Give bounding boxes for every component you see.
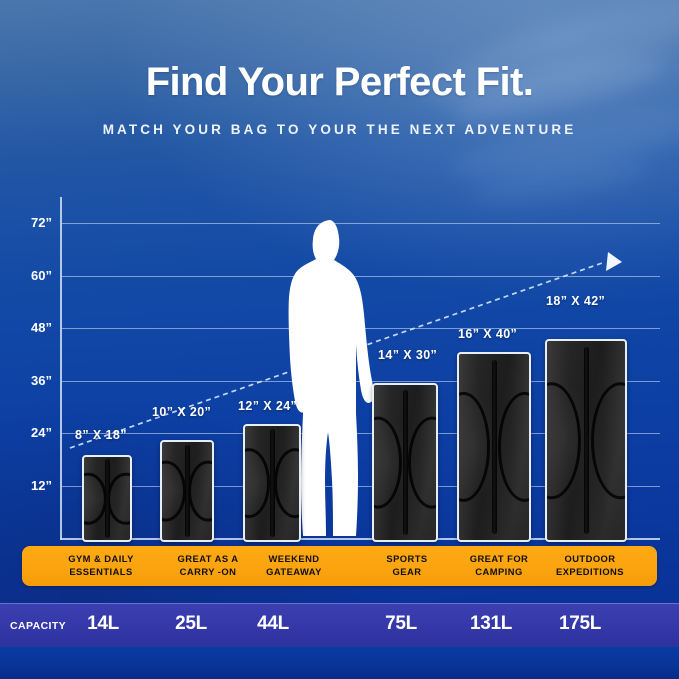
bag-dimension-label: 14” X 30” bbox=[378, 348, 437, 362]
use-case-line-2: EXPEDITIONS bbox=[530, 566, 650, 579]
bag-seam bbox=[270, 429, 275, 536]
use-case-item[interactable]: OUTDOOREXPEDITIONS bbox=[530, 553, 650, 579]
bag-dimension-label: 8” X 18” bbox=[75, 428, 127, 442]
bag-seam bbox=[403, 390, 408, 536]
bag-seam bbox=[492, 360, 497, 535]
y-axis-line bbox=[60, 197, 62, 540]
bag-bar[interactable] bbox=[457, 352, 531, 542]
bag-bar[interactable] bbox=[545, 339, 627, 542]
bag-dimension-label: 10” X 20” bbox=[152, 405, 211, 419]
bag-dimension-label: 12” X 24” bbox=[238, 399, 297, 413]
bag-size-infographic: Find Your Perfect Fit. MATCH YOUR BAG TO… bbox=[0, 0, 679, 679]
bag-bar[interactable] bbox=[243, 424, 301, 542]
bag-bar[interactable] bbox=[372, 383, 438, 542]
capacity-value: 175L bbox=[532, 613, 628, 635]
bag-dimension-label: 18” X 42” bbox=[546, 294, 605, 308]
capacity-value: 25L bbox=[148, 613, 234, 635]
y-axis-tick-label: 72” bbox=[8, 215, 52, 230]
bag-seam bbox=[105, 459, 110, 537]
bag-seam bbox=[185, 445, 190, 537]
use-case-line-2: GATEAWAY bbox=[236, 566, 352, 579]
y-axis-tick-label: 12” bbox=[8, 478, 52, 493]
use-case-line-2: ESSENTIALS bbox=[36, 566, 166, 579]
bag-bar[interactable] bbox=[160, 440, 214, 542]
capacity-value: 44L bbox=[228, 613, 318, 635]
capacity-band: CAPACITY 14L25L44L75L131L175L bbox=[0, 603, 679, 649]
use-case-item[interactable]: GYM & DAILYESSENTIALS bbox=[36, 553, 166, 579]
footer-strip bbox=[0, 647, 679, 679]
y-axis-tick-label: 60” bbox=[8, 268, 52, 283]
bag-dimension-label: 16” X 40” bbox=[458, 327, 517, 341]
use-case-band: GYM & DAILYESSENTIALSGREAT AS ACARRY -ON… bbox=[22, 546, 657, 586]
capacity-value: 131L bbox=[444, 613, 538, 635]
y-axis-tick-label: 48” bbox=[8, 320, 52, 335]
capacity-value: 14L bbox=[60, 613, 146, 635]
use-case-item[interactable]: WEEKENDGATEAWAY bbox=[236, 553, 352, 579]
capacity-value: 75L bbox=[358, 613, 444, 635]
capacity-label: CAPACITY bbox=[10, 620, 66, 632]
bag-bar[interactable] bbox=[82, 455, 132, 542]
y-axis-tick-label: 36” bbox=[8, 373, 52, 388]
use-case-line-1: WEEKEND bbox=[236, 553, 352, 566]
bag-seam bbox=[584, 347, 589, 534]
use-case-line-1: OUTDOOR bbox=[530, 553, 650, 566]
use-case-line-1: GYM & DAILY bbox=[36, 553, 166, 566]
y-axis-tick-label: 24” bbox=[8, 425, 52, 440]
